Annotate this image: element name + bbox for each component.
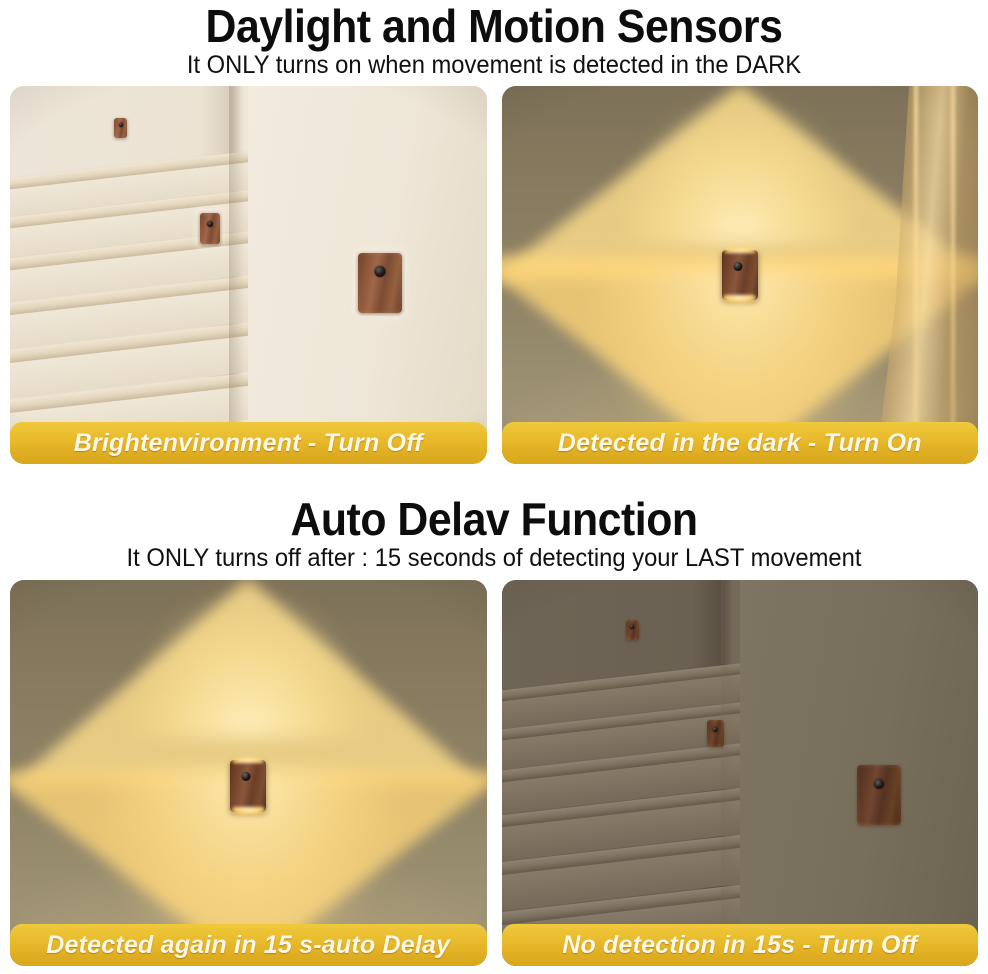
sensor-light-near	[857, 765, 901, 825]
pir-sensor-lens	[630, 625, 634, 629]
panel-detected-in-dark: Detected in the dark - Turn On	[502, 86, 979, 464]
lamp-bottom-emitter	[232, 807, 265, 815]
photo-dark-staircase	[502, 580, 979, 966]
photo-lamp-on-dark-wall	[10, 580, 487, 966]
lamp-bottom-emitter	[723, 295, 756, 303]
upper-glow	[615, 94, 865, 244]
wall-edge	[229, 86, 245, 464]
section-1-title: Daylight and Motion Sensors	[35, 0, 954, 50]
pir-sensor-lens	[242, 772, 251, 781]
section-1-subtitle: It ONLY turns on when movement is detect…	[25, 50, 964, 80]
fixture-halo	[355, 250, 405, 316]
wall-edge	[721, 580, 737, 966]
wall-lamp-fixture	[230, 760, 266, 812]
panel-bright-environment: Brightenvironment - Turn Off	[10, 86, 487, 464]
pir-sensor-lens	[207, 221, 213, 227]
panel-caption-bar: No detection in 15s - Turn Off	[502, 924, 979, 966]
pir-sensor-lens	[713, 727, 718, 732]
section-1-heading: Daylight and Motion Sensors It ONLY turn…	[0, 0, 988, 80]
panel-caption-bar: Detected again in 15 s-auto Delay	[10, 924, 487, 966]
section-2-subtitle: It ONLY turns off after : 15 seconds of …	[25, 543, 964, 573]
pir-sensor-lens	[733, 262, 742, 271]
section-1-panel-row: Brightenvironment - Turn Off	[10, 86, 978, 464]
staircase	[10, 86, 243, 464]
section-2-panel-row: Detected again in 15 s-auto Delay	[10, 580, 978, 966]
sensor-light-far	[626, 620, 639, 640]
photo-lamp-on-dark-wall	[502, 86, 979, 464]
caption-label: No detection in 15s - Turn Off	[562, 931, 917, 960]
section-2-title: Auto Delav Function	[35, 492, 954, 543]
lamp-top-emitter	[232, 757, 264, 763]
lamp-top-emitter	[724, 247, 756, 253]
photo-bright-staircase	[10, 86, 487, 464]
pir-sensor-lens	[874, 779, 884, 789]
sensor-light-mid	[200, 213, 220, 244]
wall-lamp-fixture	[722, 250, 758, 300]
section-2-heading: Auto Delav Function It ONLY turns off af…	[0, 492, 988, 573]
pir-sensor-lens	[119, 123, 123, 127]
staircase	[502, 580, 735, 966]
fixture-halo	[197, 210, 223, 247]
caption-label: Detected in the dark - Turn On	[558, 429, 922, 458]
panel-no-detection-turn-off: No detection in 15s - Turn Off	[502, 580, 979, 966]
product-infographic: Daylight and Motion Sensors It ONLY turn…	[0, 0, 988, 974]
caption-label: Detected again in 15 s-auto Delay	[46, 931, 450, 960]
caption-label: Brightenvironment - Turn Off	[74, 429, 423, 458]
upper-glow	[123, 588, 373, 738]
sensor-light-near	[358, 253, 402, 313]
panel-caption-bar: Brightenvironment - Turn Off	[10, 422, 487, 464]
sensor-light-far	[114, 118, 127, 138]
panel-detected-again-delay: Detected again in 15 s-auto Delay	[10, 580, 487, 966]
pir-sensor-lens	[375, 266, 386, 277]
panel-caption-bar: Detected in the dark - Turn On	[502, 422, 979, 464]
sensor-light-mid	[707, 720, 724, 747]
